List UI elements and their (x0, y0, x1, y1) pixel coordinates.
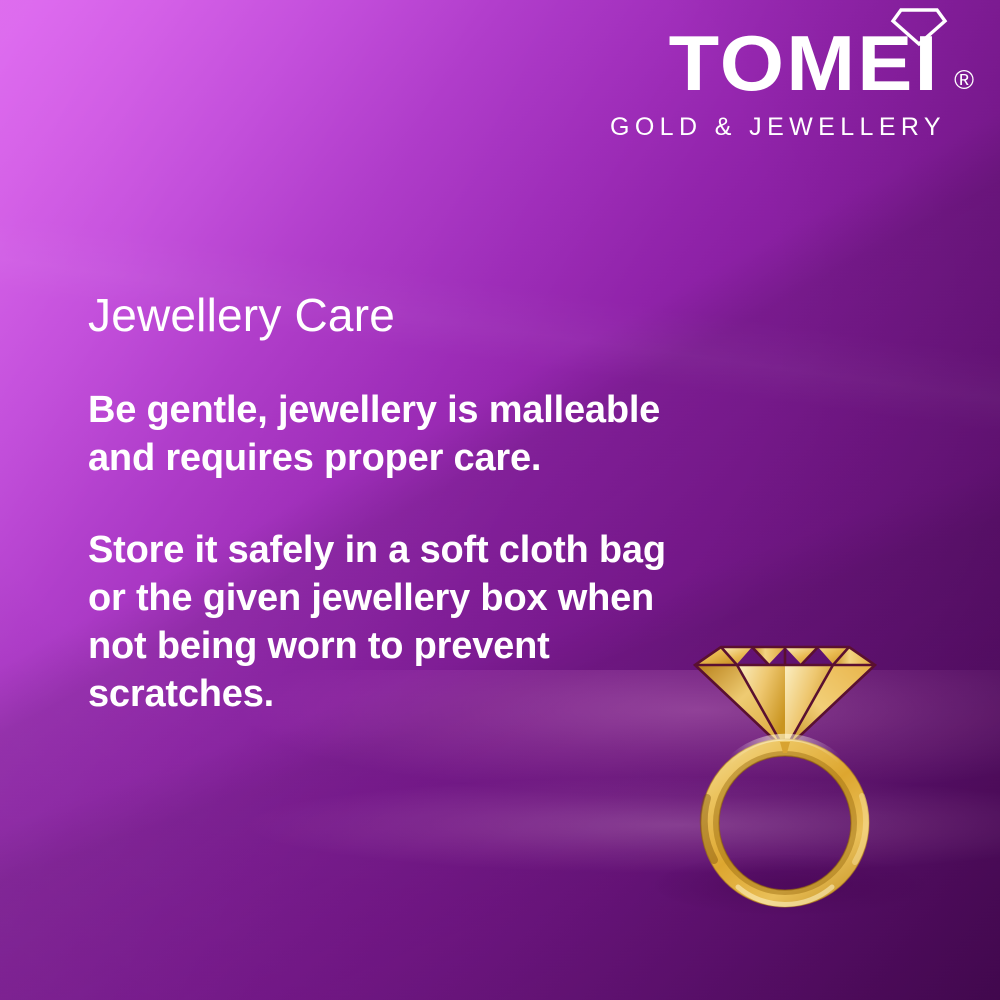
brand-logo: TOMEI ® GOLD & JEWELLERY (646, 8, 976, 108)
logo-wordmark-text: TOMEI (669, 24, 940, 102)
copy-block: Jewellery Care Be gentle, jewellery is m… (88, 288, 668, 718)
poster-canvas: TOMEI ® GOLD & JEWELLERY Jewellery Care … (0, 0, 1000, 1000)
headline-text: Jewellery Care (88, 288, 668, 342)
body-paragraph-2: Store it safely in a soft cloth bag or t… (88, 526, 668, 718)
diamond-ring-illustration (690, 638, 880, 913)
logo-tagline-text: GOLD & JEWELLERY (610, 113, 946, 141)
body-paragraph-1: Be gentle, jewellery is malleable and re… (88, 386, 668, 482)
logo-wordmark-row: TOMEI ® (646, 8, 976, 108)
registered-trademark-icon: ® (954, 67, 974, 94)
ring-band-icon (690, 733, 880, 913)
